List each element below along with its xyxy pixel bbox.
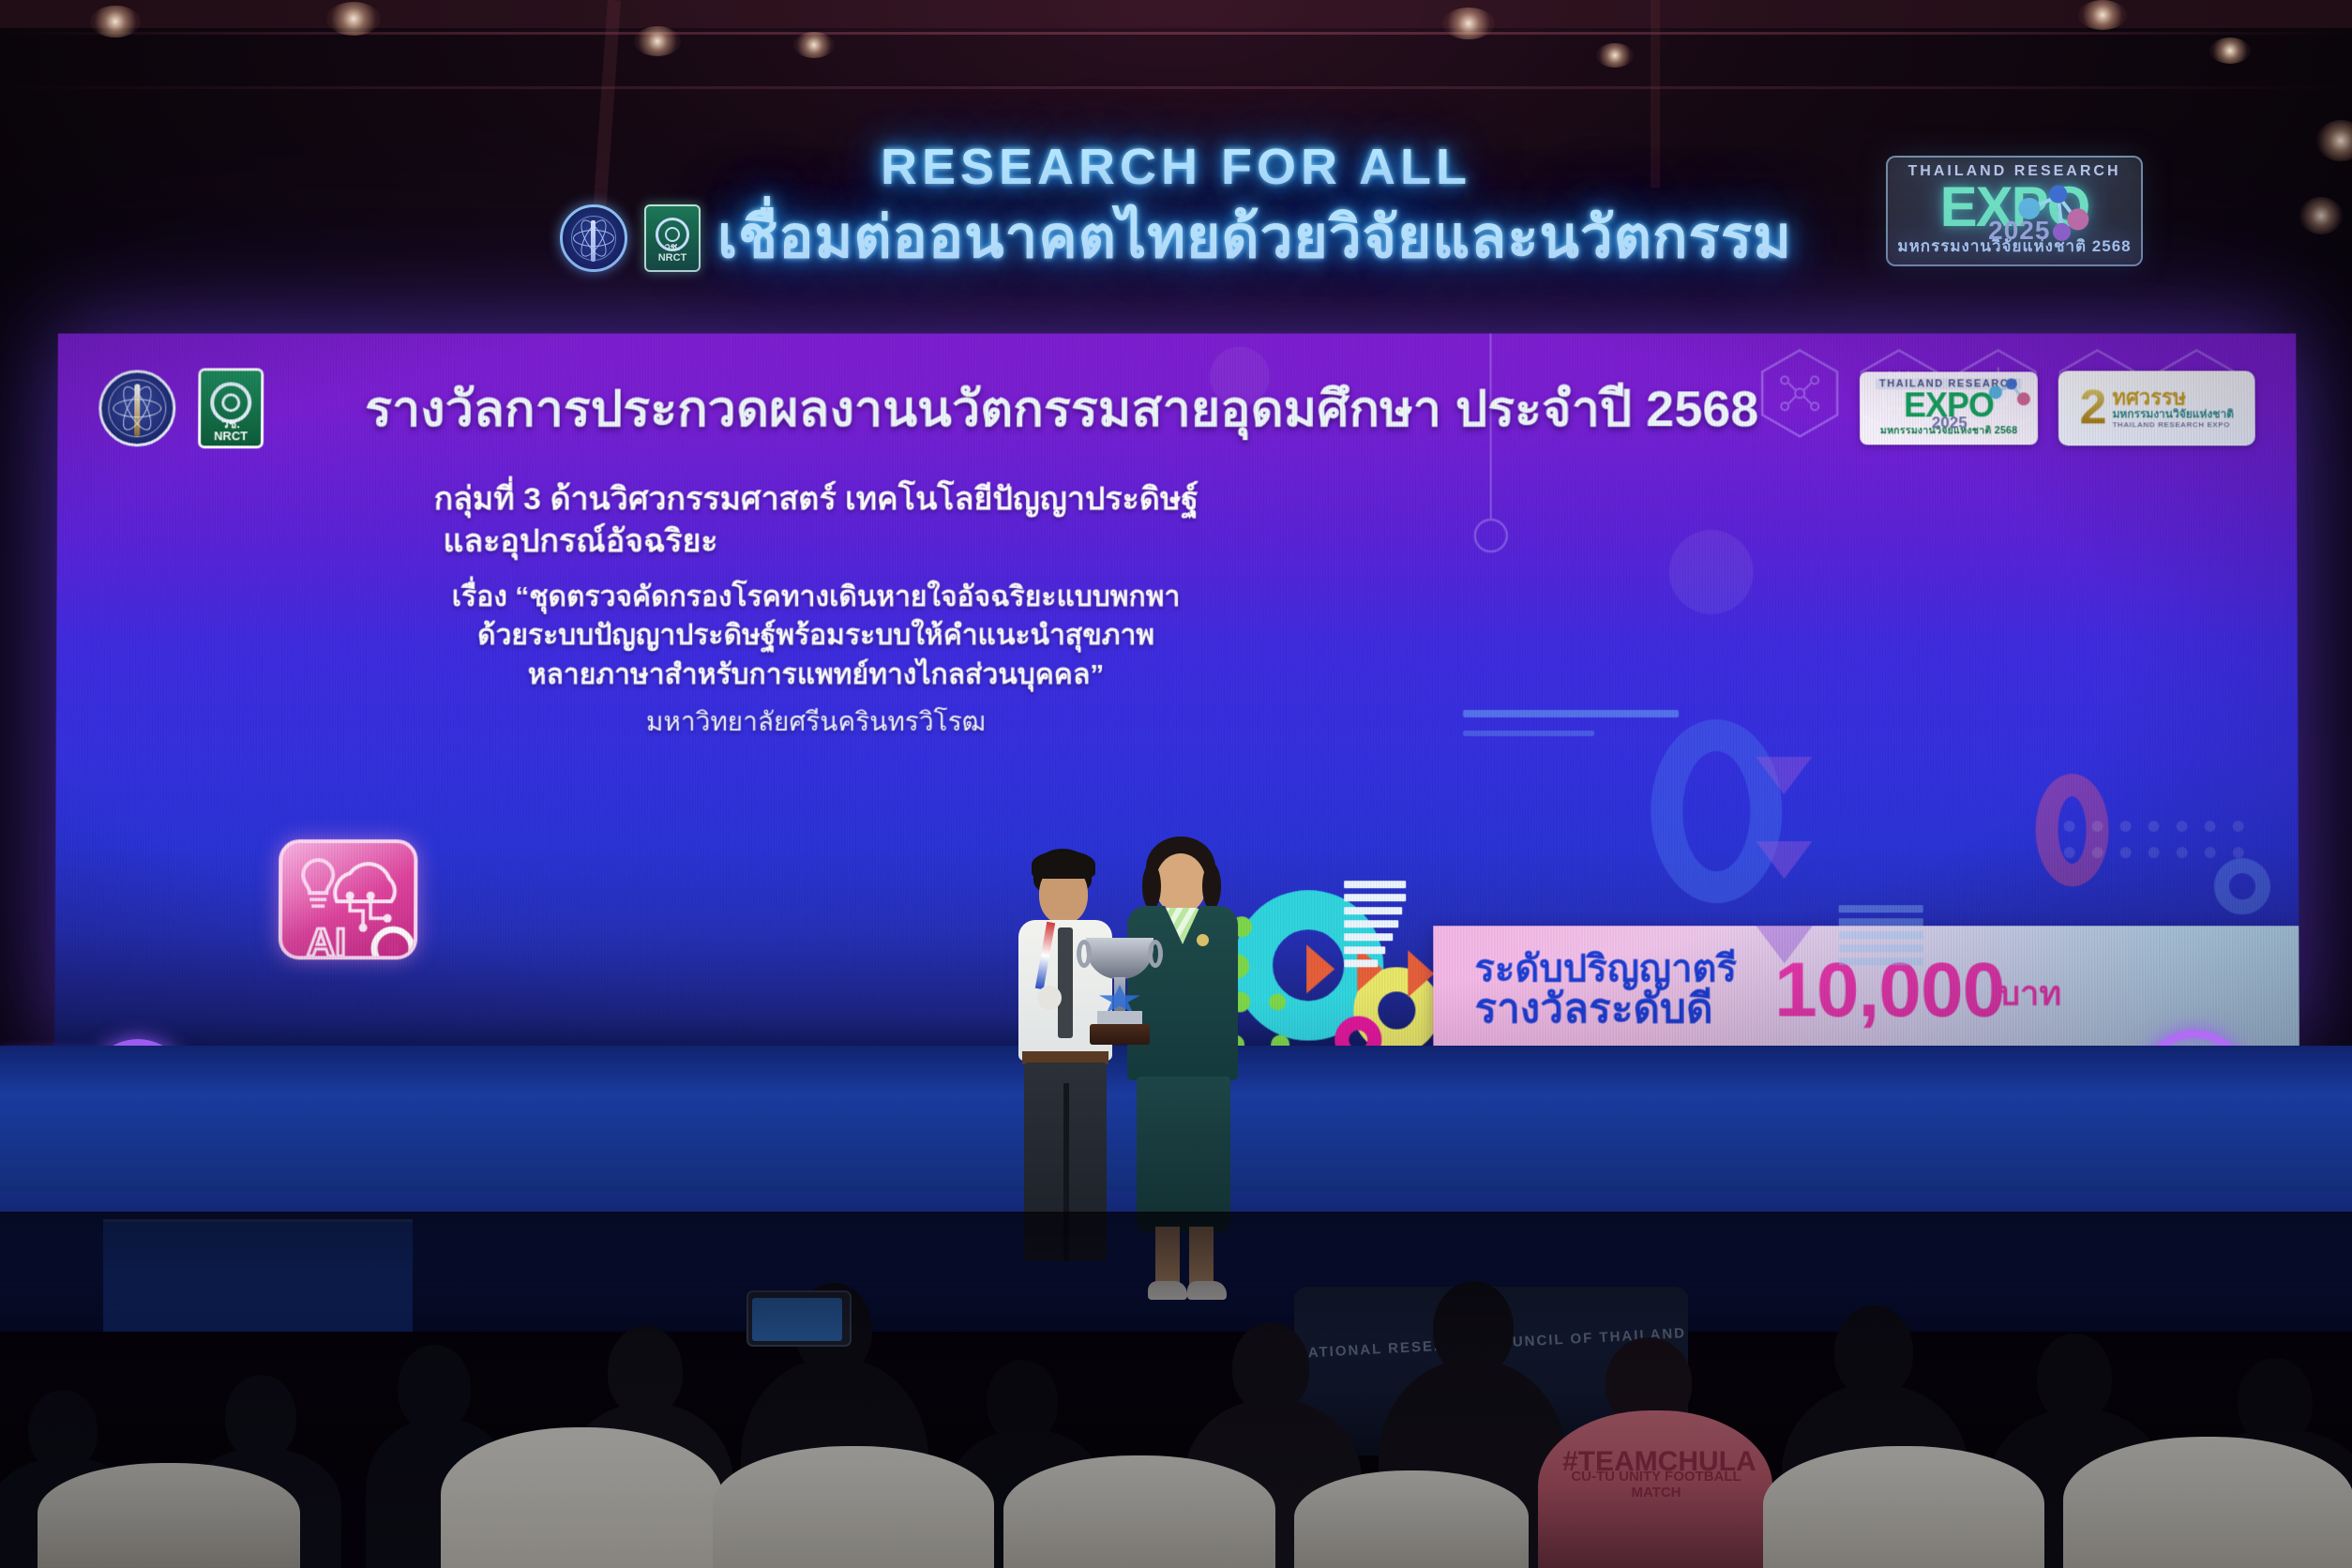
nrct-green-logo-icon: วช. NRCT — [198, 368, 264, 448]
recipient-medal — [1037, 986, 1062, 1010]
svg-text:AI: AI — [307, 920, 346, 959]
nrct-emblem-icon — [560, 204, 627, 272]
ceiling-spotlight — [90, 6, 141, 38]
decade-thai-small: มหกรรมงานวิจัยแห่งชาติ — [2112, 408, 2234, 420]
ceiling-spotlight — [2078, 0, 2127, 30]
ai-innovation-icon: AI — [279, 839, 418, 959]
project-title-block: เรื่อง “ชุดตรวจคัดกรองโรคทางเดินหายใจอัจ… — [394, 578, 1238, 743]
audience-member-pink-shirt: #TEAMCHULA CU-TU UNITY FOOTBALL MATCH — [1538, 1362, 1763, 1568]
presenter-brooch — [1197, 934, 1209, 946]
nrct-emblem-icon — [98, 369, 175, 446]
nrct-abbrev-en: NRCT — [658, 252, 687, 264]
orange-triangle-shape — [1408, 950, 1434, 997]
decade-english-small: THAILAND RESEARCH EXPO — [2112, 420, 2230, 429]
presenter-head — [1155, 853, 1206, 913]
top-sign-thai-title: เชื่อมต่ออนาคตไทยด้วยวิจัยและนวัตกรรม — [717, 202, 1792, 275]
white-stripes-deco — [1344, 881, 1406, 967]
trophy-award — [1077, 938, 1163, 1054]
expo-logo-overhead: THAILAND RESEARCH EXPO 2025 มหกรรมงานวิจ… — [1855, 141, 2174, 281]
ceiling-spotlight — [793, 32, 835, 58]
decade-thai-big: ทศวรรษ — [2112, 387, 2186, 408]
screen-right-logos: THAILAND RESEARCH EXPO 2025 มหกรรมงานวิจ… — [1860, 370, 2255, 445]
award-details-column: กลุ่มที่ 3 ด้านวิศวกรรมศาสตร์ เทคโนโลยีป… — [394, 478, 1238, 743]
university-name: มหาวิทยาลัยศรีนครินทรวิโรฒ — [394, 701, 1238, 743]
prize-banner: ระดับปริญญาตรี รางวัลระดับดี 10,000 บาท — [1433, 926, 2299, 1046]
recipient-necktie — [1058, 927, 1073, 1038]
two-decades-logo: 2 ทศวรรษ มหกรรมงานวิจัยแห่งชาติ THAILAND… — [2058, 370, 2255, 445]
prize-award-name: รางวัลระดับดี — [1474, 988, 1737, 1031]
screen-left-logos: วช. NRCT — [98, 368, 264, 448]
project-title-line-1: เรื่อง “ชุดตรวจคัดกรองโรคทางเดินหายใจอัจ… — [394, 578, 1238, 616]
molecule-icon — [1985, 373, 2034, 416]
audience-area: NATIONAL RESEARCH COUNCIL OF THAILAND — [0, 1212, 2352, 1568]
expo-logo-small: THAILAND RESEARCH EXPO 2025 มหกรรมงานวิจ… — [1860, 371, 2038, 445]
ceiling-spotlight — [326, 2, 381, 36]
presenter-skirt — [1137, 1077, 1230, 1232]
nrct-abbrev-th: วช. — [665, 242, 681, 253]
shirt-event-label: CU-TU UNITY FOOTBALL MATCH — [1562, 1469, 1750, 1501]
category-line-1: กลุ่มที่ 3 ด้านวิศวกรรมศาสตร์ เทคโนโลยีป… — [395, 478, 1238, 520]
ceiling-spotlight — [1596, 43, 1634, 68]
nrct-green-logo-icon: วช. NRCT — [644, 204, 701, 272]
molecule-icon — [2006, 173, 2096, 263]
screen-nrct-abbrev-en: NRCT — [214, 429, 248, 443]
expo-small-year: 2025 — [1932, 415, 1968, 433]
decade-number: 2 — [2079, 389, 2106, 428]
prize-level-block: ระดับปริญญาตรี รางวัลระดับดี — [1474, 950, 1737, 1031]
project-title-line-3: หลายภาษาสำหรับการแพทย์ทางไกลส่วนบุคคล” — [394, 656, 1238, 694]
screen-main-title: รางวัลการประกวดผลงานนวัตกรรมสายอุดมศึกษา… — [264, 368, 1860, 448]
prize-level: ระดับปริญญาตรี — [1474, 950, 1737, 988]
top-sign-english-title: RESEARCH FOR ALL — [881, 138, 1471, 196]
prize-amount: 10,000 — [1774, 946, 2004, 1034]
green-dot-shape — [1269, 993, 1286, 1010]
project-title-line-2: ด้วยระบบปัญญาประดิษฐ์พร้อมระบบให้คำแนะนำ… — [394, 616, 1238, 655]
screen-header-bar: วช. NRCT รางวัลการประกวดผลงานนวัตกรรมสาย… — [57, 358, 2297, 460]
ceiling-spotlight — [1442, 8, 1495, 39]
prize-currency-unit: บาท — [1998, 966, 2061, 1019]
orange-triangle-shape — [1306, 944, 1334, 993]
category-line-2: และอุปกรณ์อัจฉริยะ — [394, 520, 1238, 563]
ceiling-spotlight — [634, 26, 681, 56]
ceiling-spotlight — [2209, 38, 2251, 64]
